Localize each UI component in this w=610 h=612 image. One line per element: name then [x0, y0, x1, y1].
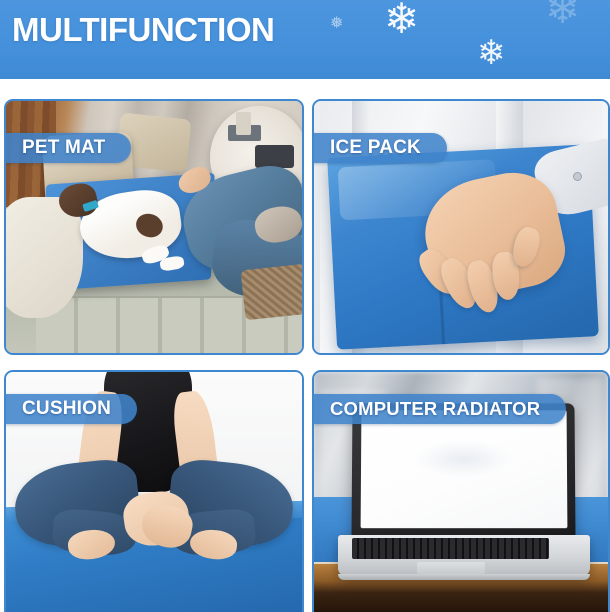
header-banner: ❅ ❅ ❄ ❄ ❄ MULTIFUNCTION	[0, 0, 610, 79]
ip-cuff-button	[573, 172, 582, 181]
label-pill-computer-radiator: COMPUTER RADIATOR	[312, 394, 566, 424]
snowflake-small-left-icon: ❅	[330, 16, 343, 32]
panel-label-pet-mat: PET MAT	[22, 137, 105, 159]
snowflake-large-center-icon: ❄	[384, 0, 419, 40]
page-title: MULTIFUNCTION	[12, 11, 274, 49]
cr-laptop-trackpad	[417, 562, 485, 574]
panel-computer-radiator[interactable]: COMPUTER RADIATOR	[312, 370, 610, 612]
snowflake-tiny-top-icon: ❅	[60, 0, 72, 2]
cr-laptop-front-lip	[338, 574, 591, 580]
snowflake-mid-right-icon: ❄	[477, 36, 506, 70]
cr-laptop-keyboard	[352, 538, 549, 560]
pm-table-object-b	[255, 145, 294, 168]
panel-cushion[interactable]: CUSHION	[4, 370, 304, 612]
pm-woven-basket	[240, 264, 302, 321]
snowflake-faded-right-icon: ❄	[545, 0, 580, 30]
label-pill-cushion: CUSHION	[4, 394, 137, 424]
panel-label-computer-radiator: COMPUTER RADIATOR	[330, 398, 540, 420]
panel-label-ice-pack: ICE PACK	[330, 137, 421, 159]
label-pill-ice-pack: ICE PACK	[312, 133, 447, 163]
pm-table-object-c	[236, 112, 252, 135]
product-feature-collage: ❅ ❅ ❄ ❄ ❄ MULTIFUNCTION	[0, 0, 610, 610]
panel-label-cushion: CUSHION	[22, 398, 111, 420]
cr-laptop-screen	[361, 410, 567, 528]
panel-grid: PET MAT	[0, 79, 610, 610]
panel-pet-mat[interactable]: PET MAT	[4, 99, 304, 355]
cr-screen-watermark	[415, 441, 514, 479]
panel-ice-pack[interactable]: ICE PACK	[312, 99, 610, 355]
label-pill-pet-mat: PET MAT	[4, 133, 131, 163]
